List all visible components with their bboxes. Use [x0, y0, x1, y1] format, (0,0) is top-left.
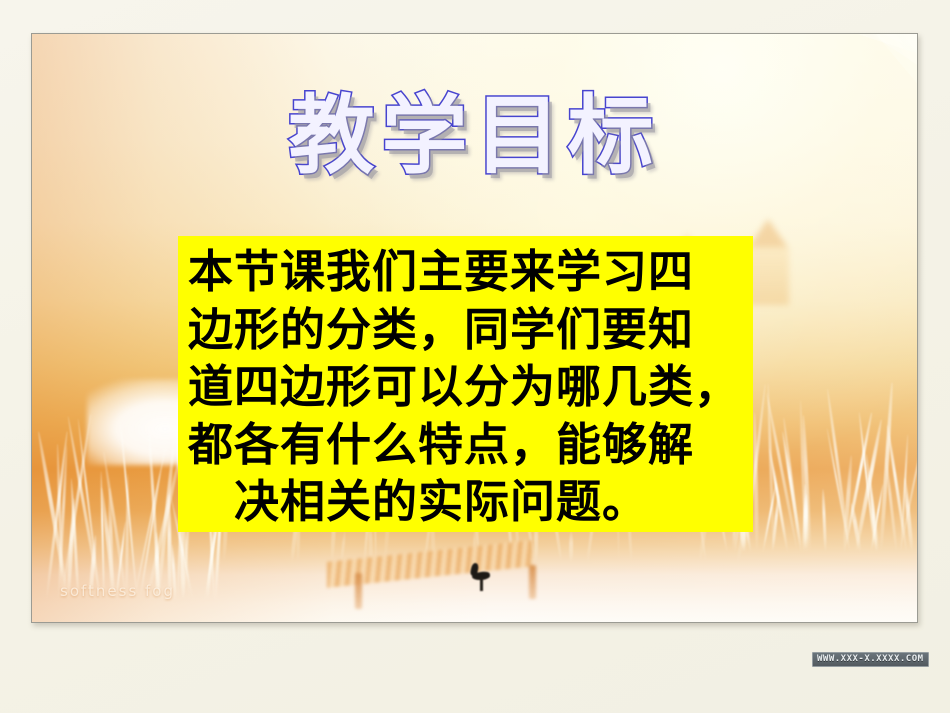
wheat-stalk [56, 444, 64, 600]
wheat-stalk [849, 503, 862, 553]
wheat-stalk [826, 388, 851, 552]
objective-line: 边形的分类，同学们要知 [188, 301, 743, 359]
house-roof-shape [747, 219, 789, 249]
wheat-stalk [765, 393, 799, 553]
wooden-pier [327, 551, 532, 597]
wheat-stalk [783, 418, 802, 552]
wheat-stalk [102, 452, 127, 600]
wheat-stalk [854, 419, 883, 552]
wheat-stalk [179, 520, 185, 600]
wheat-stalk [842, 455, 853, 552]
artwork-watermark: softness fog [60, 582, 175, 600]
wheat-stalk [753, 412, 760, 552]
distant-house-icon [747, 219, 789, 305]
wheat-stalk [57, 445, 69, 600]
wheat-stalk [767, 383, 776, 552]
wheat-stalk [803, 484, 809, 553]
wheat-stalk [781, 432, 803, 553]
wheat-stalk [37, 432, 70, 601]
bird-silhouette-icon [468, 562, 494, 588]
wheat-stalk [884, 458, 897, 552]
house-body-shape [747, 247, 789, 305]
wheat-stalk [799, 400, 807, 552]
presentation-page: softness fog 教学目标 本节课我们主要来学习四 边形的分类，同学们要… [0, 0, 950, 713]
wheat-stalk [771, 495, 781, 553]
wheat-stalk [769, 448, 790, 552]
pier-post [355, 573, 362, 609]
wheat-stalk [903, 478, 914, 552]
wheat-stalk [45, 431, 68, 600]
wheat-stalk [100, 471, 105, 600]
wheat-stalk [899, 425, 918, 552]
wheat-stalk [802, 494, 808, 552]
wheat-stalk [802, 415, 812, 552]
wheat-stalk [843, 413, 873, 552]
wheat-stalk [900, 434, 909, 552]
wheat-stalk [827, 427, 852, 552]
objective-line: 都各有什么特点，能够解 [188, 416, 743, 474]
wheat-stalk [206, 521, 216, 600]
slide-title: 教学目标 [32, 91, 917, 182]
wheat-stalk [569, 532, 573, 562]
wheat-stalk [869, 498, 879, 552]
wheat-stalk [870, 484, 884, 553]
wheat-stalk [879, 382, 894, 552]
objective-line: 本节课我们主要来学习四 [188, 243, 743, 301]
wheat-stalk [870, 492, 878, 552]
objective-line: 决相关的实际问题。 [188, 473, 743, 531]
wheat-stalk [859, 411, 877, 552]
wheat-stalk [133, 444, 167, 600]
bird-leg-shape [480, 578, 483, 591]
slide-canvas: softness fog 教学目标 本节课我们主要来学习四 边形的分类，同学们要… [31, 33, 918, 623]
objective-text-box: 本节课我们主要来学习四 边形的分类，同学们要知 道四边形可以分为哪几类， 都各有… [178, 236, 753, 532]
wheat-stalk [886, 426, 908, 553]
objective-line: 道四边形可以分为哪几类， [188, 358, 743, 416]
wheat-stalk [762, 483, 777, 552]
site-watermark: WWW.XXX-X.XXXX.COM [812, 652, 929, 667]
wheat-stalk [145, 452, 182, 601]
wheat-stalk [865, 454, 880, 553]
pier-post [529, 565, 536, 599]
wheat-stalk [821, 489, 827, 552]
